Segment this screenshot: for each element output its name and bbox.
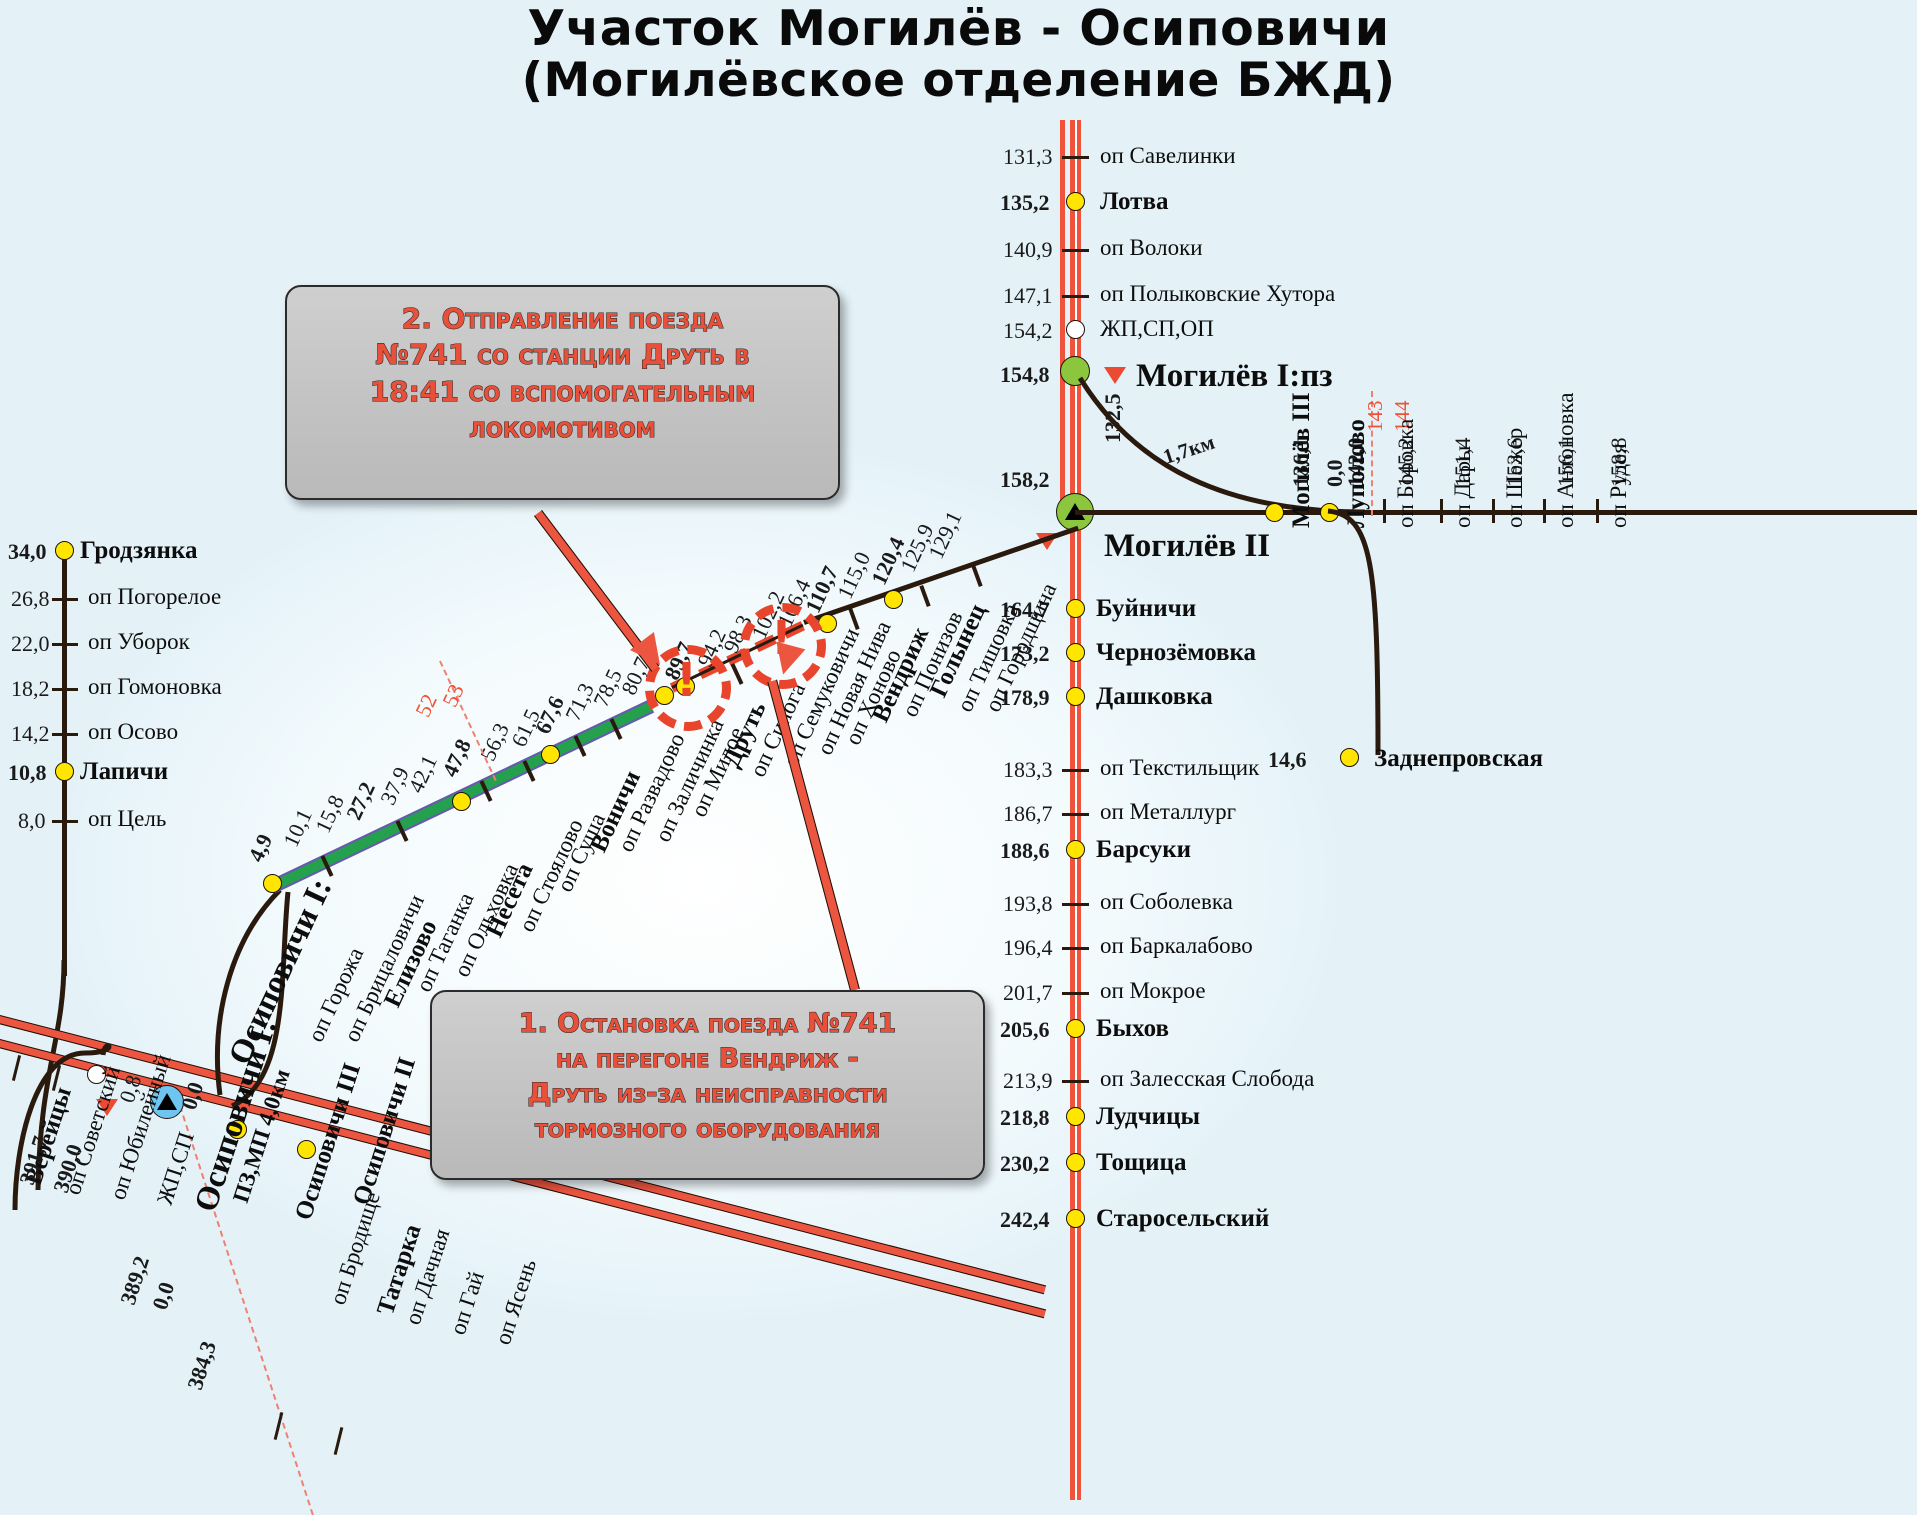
red-km-53: 53 <box>437 680 470 711</box>
tick-mark <box>52 820 78 823</box>
tick-mark <box>1062 249 1089 252</box>
callout-1-line-2: на перегоне Вендриж - <box>450 1041 965 1076</box>
tick-mark <box>52 643 78 646</box>
station-name: оп Цель <box>88 806 166 832</box>
tick-mark <box>919 585 930 607</box>
tick-mark <box>52 598 78 601</box>
tick-mark <box>1543 499 1546 523</box>
km-label: 205,6 <box>1000 1017 1050 1043</box>
station-name-lapichi: Лапичи <box>80 758 168 786</box>
station-name: оп Бродище <box>325 1189 386 1308</box>
station-dot-grodzyanka[interactable] <box>55 541 74 560</box>
tick-mark <box>971 565 982 587</box>
km-label: 26,8 <box>11 586 50 612</box>
title-line-1: Участок Могилёв - Осиповичи <box>0 4 1917 55</box>
km-label: 22,0 <box>11 631 50 657</box>
km-label: 384,3 <box>182 1338 222 1393</box>
tick-mark <box>1062 992 1089 995</box>
tick-mark <box>848 608 859 630</box>
station-name: оп Текстильщик <box>1100 755 1259 781</box>
station-name: Лотва <box>1100 188 1168 216</box>
page-title: Участок Могилёв - Осиповичи (Могилёвское… <box>0 4 1917 106</box>
station-name: Тощица <box>1096 1149 1186 1177</box>
station-name: оп Уборок <box>88 629 190 655</box>
station-name: оп Рудея <box>1606 443 1632 528</box>
tick-mark <box>1062 1080 1089 1083</box>
station-dot-zadneprovskaya[interactable] <box>1340 748 1359 767</box>
km-label: 135,2 <box>1000 190 1050 216</box>
km-label: 14,2 <box>11 721 50 747</box>
tick-mark <box>274 1412 284 1440</box>
km-label: 129,1 <box>923 507 967 563</box>
tick-mark <box>1062 295 1089 298</box>
station-name-zadneprovskaya: Заднепровская <box>1374 745 1543 773</box>
km-label: 183,3 <box>1003 757 1053 783</box>
station-dot-nesseta[interactable] <box>541 745 560 764</box>
red-km-52: 52 <box>410 690 443 721</box>
callout-2-line-2: №741 со станции Друть в <box>305 337 820 373</box>
station-dot-osipovichi-1-diag[interactable] <box>263 874 282 893</box>
tick-mark <box>1062 903 1089 906</box>
km-label: 201,7 <box>1003 980 1053 1006</box>
km-label: 154,2 <box>1003 318 1053 344</box>
station-dot-elizovo[interactable] <box>452 792 471 811</box>
tick-mark <box>1062 156 1089 159</box>
station-name: оп Ясень <box>490 1256 542 1348</box>
km-label: 10,1 <box>278 805 318 851</box>
station-name: оп Савелинки <box>1100 143 1236 169</box>
station-name-grodzyanka: Гродзянка <box>80 537 197 565</box>
station-name: оп Осово <box>88 719 178 745</box>
tick-mark <box>1596 499 1599 523</box>
km-label: 213,9 <box>1003 1068 1053 1094</box>
red-km-143: 143 <box>1363 401 1388 433</box>
km-label-junction: 158,2 <box>1000 467 1050 493</box>
station-dot-mogilev-3[interactable] <box>1265 503 1284 522</box>
main-rail-double-segment <box>1060 120 1065 510</box>
km-label: 186,7 <box>1003 801 1053 827</box>
station-dot[interactable] <box>1066 687 1085 706</box>
tick-mark <box>1062 769 1089 772</box>
callout-2-line-1: 2. Отправление поезда <box>305 301 820 337</box>
km-label: 140,9 <box>1003 237 1053 263</box>
km-label: 218,8 <box>1000 1105 1050 1131</box>
km-label: 154,8 <box>1000 362 1050 388</box>
station-dot[interactable] <box>1066 192 1085 211</box>
tick-mark <box>731 663 744 685</box>
station-name: Чернозёмовка <box>1096 639 1256 667</box>
station-dot[interactable] <box>1066 643 1085 662</box>
station-name: оп Волоки <box>1100 235 1203 261</box>
station-dot[interactable] <box>1066 320 1085 339</box>
station-name: оп Соболевка <box>1100 889 1233 915</box>
callout-2-line-4: локомотивом <box>305 410 820 446</box>
callout-1-box[interactable]: 1. Остановка поезда №741 на перегоне Вен… <box>430 990 985 1180</box>
km-label: 188,6 <box>1000 838 1050 864</box>
km-label: 196,4 <box>1003 935 1053 961</box>
km-label: 10,8 <box>8 760 47 786</box>
km-label: 42,1 <box>403 751 443 797</box>
tick-mark <box>1062 813 1089 816</box>
station-dot[interactable] <box>1066 1107 1085 1126</box>
station-name: оп Металлург <box>1100 799 1236 825</box>
km-label: 4,9 <box>243 830 278 866</box>
station-name: оп Гай <box>445 1268 490 1338</box>
km-label: 8,0 <box>18 808 46 834</box>
callout-2-box[interactable]: 2. Отправление поезда №741 со станции Др… <box>285 285 840 500</box>
callout-1-line-1: 1. Остановка поезда №741 <box>450 1006 965 1041</box>
station-name: оп Мокрое <box>1100 978 1206 1004</box>
km-label: 147,1 <box>1003 283 1053 309</box>
station-dot[interactable] <box>1066 1153 1085 1172</box>
km-label: 27,2 <box>341 778 381 824</box>
station-name: оп Полыковские Хутора <box>1100 281 1335 307</box>
km-label: 131,3 <box>1003 144 1053 170</box>
callout-2-line-3: 18:41 со вспомогательным <box>305 374 820 410</box>
station-dot[interactable] <box>1066 1019 1085 1038</box>
callout-1-line-4: тормозного оборудования <box>450 1111 965 1146</box>
station-dot-lapichi[interactable] <box>55 762 74 781</box>
tick-mark <box>1062 947 1089 950</box>
station-name: оп Залесская Слобода <box>1100 1066 1314 1092</box>
callout-1-line-3: Друть из-за неисправности <box>450 1076 965 1111</box>
station-dot-golynets[interactable] <box>884 590 903 609</box>
station-name: оп Гомоновка <box>88 674 222 700</box>
station-name: оп Баркалабово <box>1100 933 1253 959</box>
km-label: 14,6 <box>1268 747 1307 773</box>
station-dot[interactable] <box>1066 599 1085 618</box>
km-label: 34,0 <box>8 539 47 565</box>
station-name: ЖП,СП,ОП <box>1100 316 1214 342</box>
railway-map-canvas: Участок Могилёв - Осиповичи (Могилёвское… <box>0 0 1917 1500</box>
station-name: оп Погорелое <box>88 584 221 610</box>
station-name: Барсуки <box>1096 836 1191 864</box>
km-label: 18,2 <box>11 676 50 702</box>
title-line-2: (Могилёвское отделение БЖД) <box>0 57 1917 106</box>
km-label: 242,4 <box>1000 1207 1050 1233</box>
station-name: Быхов <box>1096 1015 1169 1043</box>
tick-mark <box>52 733 78 736</box>
km-label: 56,3 <box>475 719 515 765</box>
station-name: Старосельский <box>1096 1205 1269 1233</box>
station-name: оп Антоновка <box>1553 393 1579 528</box>
tick-mark <box>334 1427 344 1455</box>
tick-mark <box>52 688 78 691</box>
station-name: Буйничи <box>1096 595 1196 623</box>
km-label: 47,8 <box>437 735 477 781</box>
station-dot[interactable] <box>1066 1209 1085 1228</box>
station-dot[interactable] <box>1066 840 1085 859</box>
station-name-mogilev-3: Могилёв III <box>1288 392 1316 528</box>
km-label: 193,8 <box>1003 891 1053 917</box>
station-name: Дашковка <box>1096 683 1213 711</box>
km-label: 0,0 <box>147 1279 180 1313</box>
station-name: Лудчицы <box>1096 1103 1200 1131</box>
hazard-exclamation-icon: ! <box>676 660 697 701</box>
km-label: 230,2 <box>1000 1151 1050 1177</box>
